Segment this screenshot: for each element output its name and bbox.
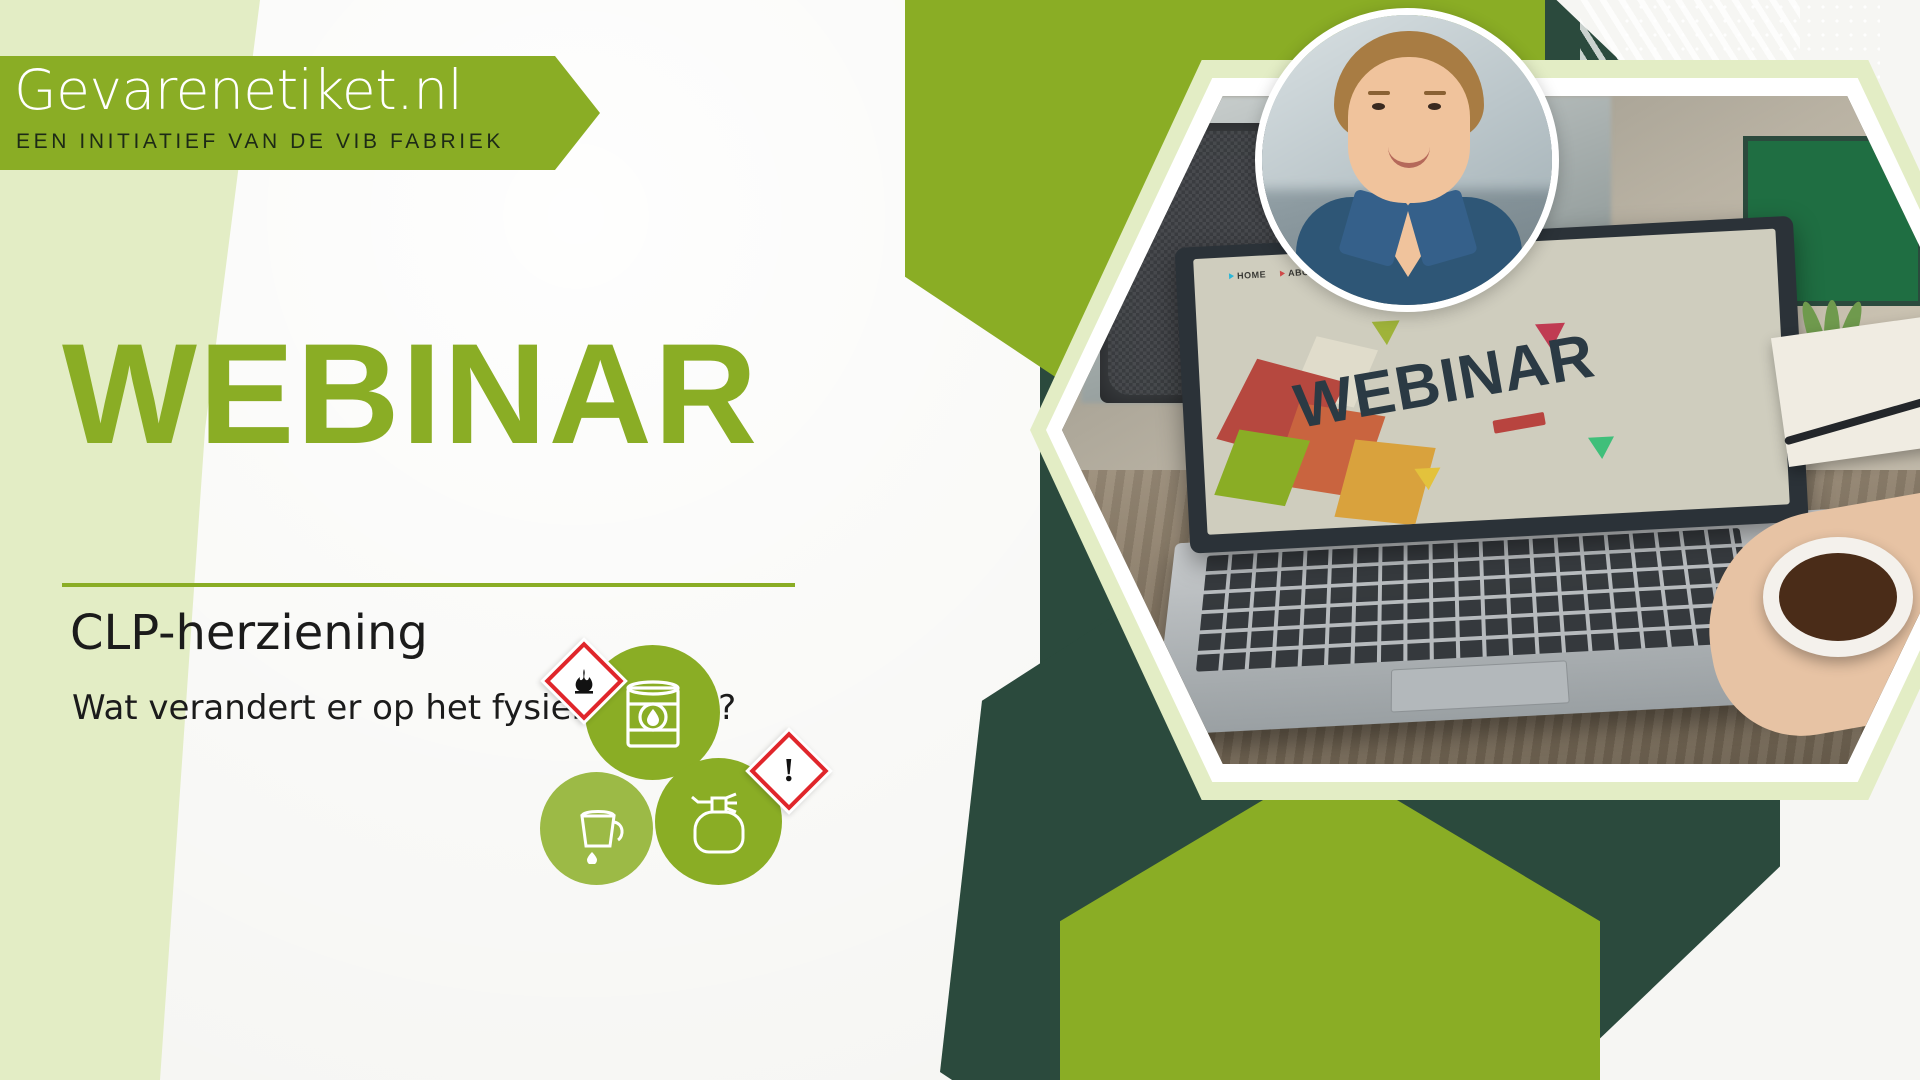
- logo-banner[interactable]: Gevarenetiket.nl EEN INITIATIEF VAN DE V…: [0, 56, 600, 170]
- exclamation-glyph: !: [783, 754, 794, 788]
- portrait-eyebrow: [1424, 91, 1446, 95]
- slide-title-underline: [1492, 411, 1545, 433]
- coffee-cup: [1763, 537, 1913, 657]
- slide-triangle: [1371, 320, 1400, 345]
- page-title: WEBINAR: [62, 323, 759, 466]
- banner-canvas: HOME ABOUT US GALLERY: [0, 0, 1920, 1080]
- logo-wordmark: Gevarenetiket.nl: [14, 58, 462, 122]
- portrait-eye: [1428, 103, 1441, 110]
- flame-icon: [569, 666, 599, 696]
- presenter-portrait: [1255, 8, 1559, 312]
- pictogram-cluster: !: [520, 630, 860, 880]
- nav-marker-icon: [1229, 273, 1234, 279]
- paint-can-icon-circle: [540, 772, 653, 885]
- logo-tagline: EEN INITIATIEF VAN DE VIB FABRIEK: [16, 130, 504, 154]
- portrait-eye: [1372, 103, 1385, 110]
- slide-triangle: [1414, 467, 1441, 490]
- coffee-liquid: [1779, 553, 1897, 641]
- slide-triangle: [1587, 436, 1614, 459]
- portrait-face: [1348, 57, 1470, 203]
- laptop-trackpad: [1390, 660, 1569, 712]
- subtitle: CLP-herziening: [70, 605, 428, 661]
- exclamation-icon: !: [783, 754, 794, 788]
- slide-title: WEBINAR: [1289, 319, 1600, 442]
- portrait-eyebrow: [1368, 91, 1390, 95]
- title-divider: [62, 583, 795, 587]
- nav-item-home: HOME: [1228, 269, 1265, 281]
- paint-can-icon: [540, 772, 653, 885]
